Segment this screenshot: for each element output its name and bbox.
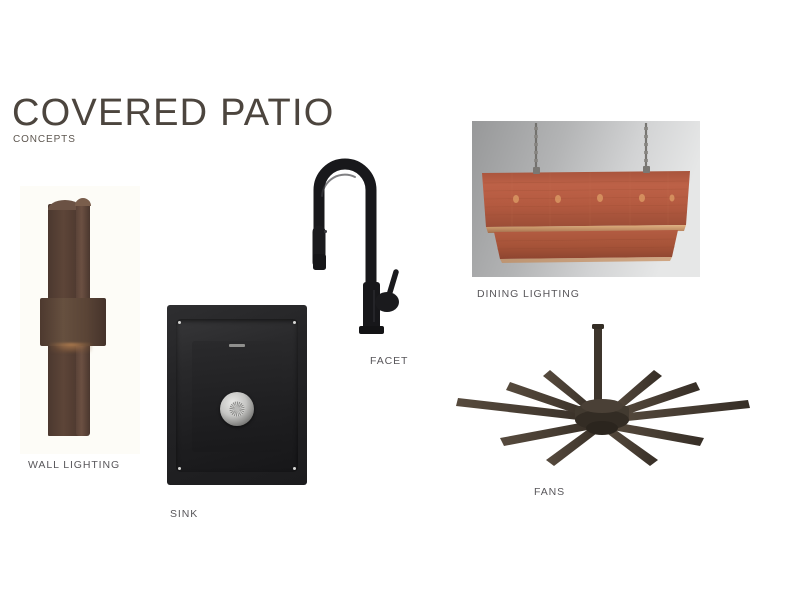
page-title: COVERED PATIO — [12, 94, 334, 132]
sink-overflow-slot — [229, 344, 245, 347]
caption-fans: FANS — [534, 486, 565, 498]
sconce-center-band — [40, 298, 106, 346]
wall-lighting-image[interactable] — [20, 186, 140, 454]
sink-drain — [220, 392, 254, 426]
sink-screw-bottom-left — [178, 467, 181, 470]
sink-screw-bottom-right — [293, 467, 296, 470]
dining-lighting-image[interactable] — [472, 121, 700, 277]
ceiling-fan-illustration — [448, 320, 758, 480]
faucet-image[interactable] — [295, 130, 425, 340]
page-subtitle: CONCEPTS — [13, 134, 76, 145]
sconce-light-glow — [50, 343, 92, 353]
caption-facet: FACET — [370, 355, 408, 367]
sconce-front-top-curve — [75, 198, 91, 206]
caption-sink: SINK — [170, 508, 198, 520]
faucet-illustration — [295, 130, 425, 340]
sink-image[interactable] — [167, 305, 307, 485]
caption-wall-lighting: WALL LIGHTING — [28, 459, 120, 471]
fans-image[interactable] — [448, 320, 758, 480]
caption-dining-lighting: DINING LIGHTING — [477, 288, 580, 300]
pendant-illustration — [472, 121, 700, 277]
sink-screw-top-left — [178, 321, 181, 324]
sink-drain-center — [235, 407, 240, 412]
concept-board: COVERED PATIO CONCEPTS WALL LIGHTING SIN… — [0, 0, 800, 600]
sink-basin — [176, 319, 298, 472]
